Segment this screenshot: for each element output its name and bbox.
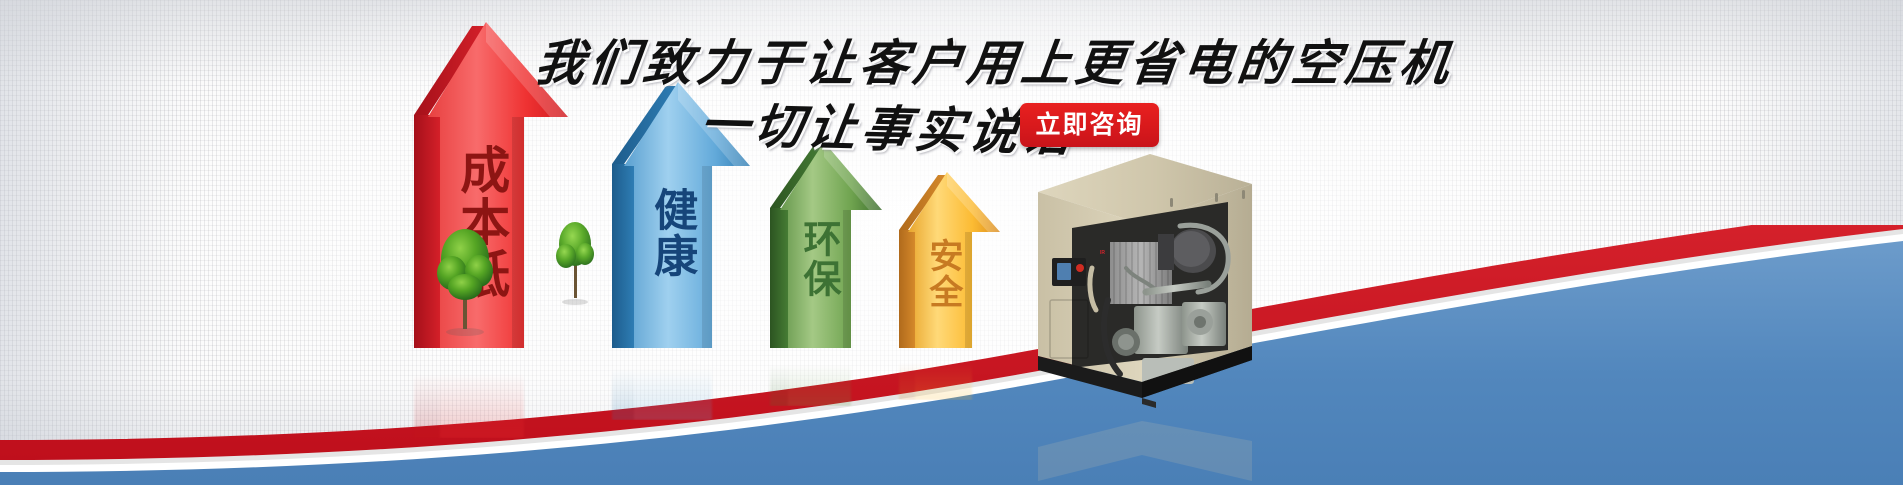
- arrow-environment-shape: [760, 140, 890, 348]
- compressor-reflection: [1030, 411, 1260, 481]
- tree-small-shape: [554, 218, 598, 308]
- tree-small: [554, 218, 598, 313]
- headline-line-1: 我们致力于让客户用上更省电的空压机: [532, 24, 1459, 95]
- tree-large: [432, 225, 500, 342]
- arrow-safety-shape: [890, 170, 1008, 348]
- air-compressor-shape: IR Ingersoll Rand: [1030, 150, 1260, 410]
- tree-large-shape: [432, 225, 500, 337]
- svg-text:IR: IR: [1100, 250, 1105, 256]
- arrow-environment-reflection: [760, 348, 890, 406]
- arrow-cost-reflection: [400, 348, 580, 438]
- arrow-environment: 环保: [760, 140, 890, 348]
- air-compressor-product-image: IR Ingersoll Rand: [1030, 150, 1260, 481]
- arrow-health-reflection: [600, 348, 760, 420]
- promo-banner: 成本低: [0, 0, 1903, 485]
- arrow-safety: 安全: [890, 170, 1008, 348]
- consult-now-button[interactable]: 立即咨询: [1020, 103, 1159, 147]
- arrow-safety-reflection: [890, 348, 1008, 400]
